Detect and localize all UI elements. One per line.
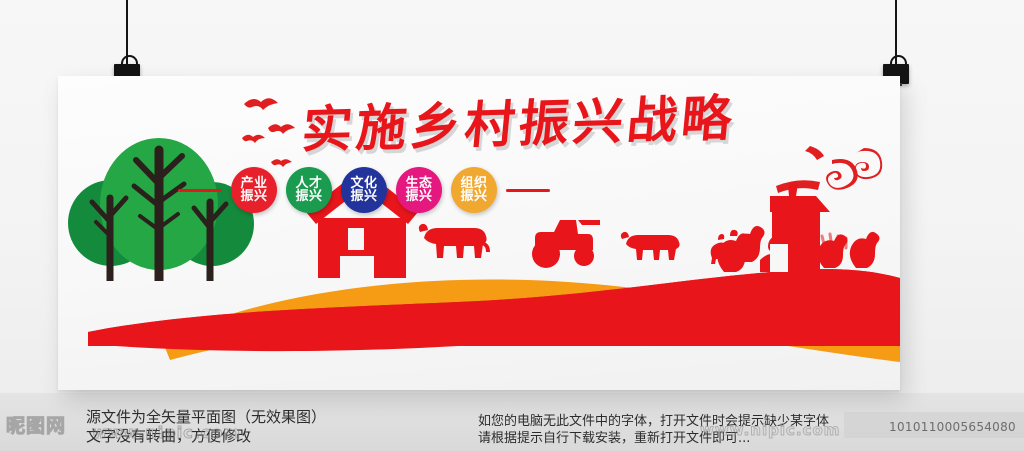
bird-icon [268,124,295,134]
pillar-zuzhi[interactable]: 组织 振兴 [451,167,497,213]
house-window [348,228,364,250]
pillar-line1: 组织 [460,177,487,190]
pillar-line2: 振兴 [240,190,267,203]
rule-right [506,189,550,192]
tractor-icon [532,220,600,268]
pillar-line1: 生态 [405,177,432,190]
bird-icon [244,98,278,110]
pillar-shengtai[interactable]: 生态 振兴 [396,167,442,213]
pillar-line1: 产业 [240,177,267,190]
poster-canvas: 实施乡村振兴战略 产业 振兴 人才 振兴 文化 振兴 生态 振兴 组织 振兴 [58,76,900,390]
pillars-row: 产业 振兴 人才 振兴 文化 振兴 生态 振兴 组织 振兴 [178,166,778,214]
coop-door [770,244,788,272]
watermark-site-name: 昵图网 [6,411,66,438]
poster-headline: 实施乡村振兴战略 [303,90,823,156]
pillar-line1: 人才 [295,177,322,190]
cow-icon [419,224,490,258]
goose-icon [850,232,880,268]
poster-board: 实施乡村振兴战略 产业 振兴 人才 振兴 文化 振兴 生态 振兴 组织 振兴 [58,76,900,390]
chicken-icon [717,230,750,272]
cow-icon [621,232,680,260]
headline-text: 实施乡村振兴战略 [299,83,827,163]
image-id-number: 1010110005654080 [889,420,1016,434]
pillar-line2: 振兴 [460,190,487,203]
bird-icon [242,135,265,143]
pillar-line2: 振兴 [350,190,377,203]
pillar-line1: 文化 [350,177,377,190]
rule-left [178,189,222,192]
watermark-url-right: www.nipic.com [700,421,840,439]
pillar-line2: 振兴 [405,190,432,203]
watermark-url: www.nipic.com [92,423,241,442]
pillar-line2: 振兴 [295,190,322,203]
pillar-wenhua[interactable]: 文化 振兴 [341,167,387,213]
pillar-rencai[interactable]: 人才 振兴 [286,167,332,213]
pillar-chanye[interactable]: 产业 振兴 [231,167,277,213]
house-door [340,256,374,278]
